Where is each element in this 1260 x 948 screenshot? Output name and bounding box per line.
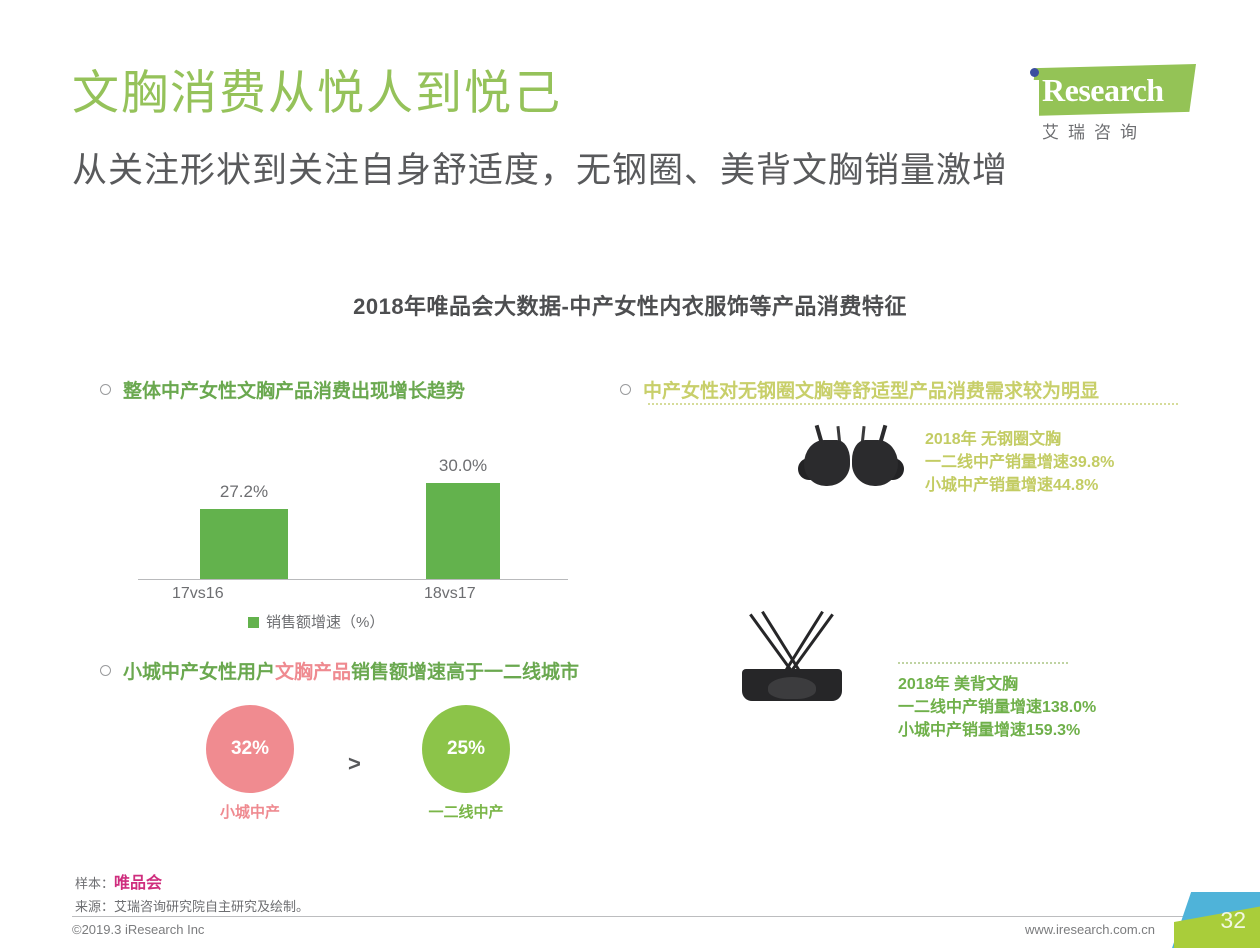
- wireless-bra-line2: 一二线中产销量增速39.8%: [925, 451, 1114, 474]
- bar-value-18vs17: 30.0%: [421, 456, 505, 476]
- bralette-lace-detail: [768, 677, 816, 699]
- legend-label: 销售额增速（%）: [266, 614, 384, 631]
- wireless-bra-line1: 2018年 无钢圈文胸: [925, 428, 1114, 451]
- bullet-left-mid: 小城中产女性用户文胸产品销售额增速高于一二线城市: [100, 657, 579, 684]
- bullet-left-mid-part1: 小城中产女性用户: [123, 662, 275, 683]
- wireless-bra-image: [798, 424, 904, 486]
- bralette-strap-cross-left-2: [784, 611, 824, 672]
- bar-18vs17: [426, 483, 500, 579]
- bar-17vs16: [200, 509, 288, 579]
- greater-than-icon: >: [348, 751, 361, 777]
- logo-i-stem-icon: [1030, 80, 1039, 116]
- beautiful-back-bra-image: [740, 605, 844, 701]
- page-title: 文胸消费从悦人到悦己: [72, 68, 562, 117]
- bullet-left-top-label: 整体中产女性文胸产品消费出现增长趋势: [123, 381, 465, 402]
- circle-bullet-icon: [100, 384, 111, 395]
- sample-value: 唯品会: [114, 875, 162, 892]
- bullet-left-mid-part2: 文胸产品: [275, 662, 351, 683]
- comparison-circles: 32% > 25% 小城中产 一二线中产: [140, 705, 600, 835]
- footer-copyright: ©2019.3 iResearch Inc: [72, 922, 204, 937]
- dotted-underline-right: [648, 403, 1178, 405]
- source-line: 来源：艾瑞咨询研究院自主研究及绘制。: [75, 897, 309, 917]
- circle-small-city-value: 32%: [206, 705, 294, 793]
- circle-bullet-icon: [620, 384, 631, 395]
- footer-website: www.iresearch.com.cn: [1025, 922, 1155, 937]
- bra-cup-right: [852, 440, 898, 486]
- wireless-bra-caption: 2018年 无钢圈文胸 一二线中产销量增速39.8% 小城中产销量增速44.8%: [925, 428, 1114, 498]
- circle-tier12-value: 25%: [422, 705, 510, 793]
- bullet-left-top: 整体中产女性文胸产品消费出现增长趋势: [100, 376, 465, 403]
- logo-wordmark: Research: [1042, 72, 1164, 109]
- page-subtitle: 从关注形状到关注自身舒适度，无钢圈、美背文胸销量激增: [72, 152, 1008, 191]
- footer-divider: [72, 916, 1188, 917]
- bullet-right-top-label: 中产女性对无钢圈文胸等舒适型产品消费需求较为明显: [643, 381, 1099, 402]
- bra-cup-left: [804, 440, 850, 486]
- beautiful-back-bra-line2: 一二线中产销量增速138.0%: [898, 696, 1096, 719]
- circle-small-city-label: 小城中产: [206, 801, 294, 822]
- logo-i-dot-icon: [1030, 68, 1039, 77]
- slide-root: 文胸消费从悦人到悦己 从关注形状到关注自身舒适度，无钢圈、美背文胸销量激增 Re…: [0, 0, 1260, 948]
- bar-category-18vs17: 18vs17: [424, 585, 476, 603]
- legend-swatch-icon: [248, 617, 259, 628]
- sample-label: 样本：: [75, 876, 114, 891]
- dotted-line-above-caption: [898, 662, 1068, 664]
- iresearch-logo: Research 艾瑞咨询: [1002, 58, 1202, 146]
- beautiful-back-bra-line1: 2018年 美背文胸: [898, 673, 1096, 696]
- bar-chart: 27.2% 30.0%: [138, 440, 568, 580]
- circle-bullet-icon: [100, 665, 111, 676]
- beautiful-back-bra-line3: 小城中产销量增速159.3%: [898, 719, 1096, 742]
- bar-value-17vs16: 27.2%: [198, 482, 290, 502]
- bar-category-17vs16: 17vs16: [172, 585, 224, 603]
- chart-title: 2018年唯品会大数据-中产女性内衣服饰等产品消费特征: [0, 289, 1260, 321]
- wireless-bra-line3: 小城中产销量增速44.8%: [925, 474, 1114, 497]
- page-number: 32: [1220, 907, 1246, 934]
- footnote-block: 样本：唯品会 来源：艾瑞咨询研究院自主研究及绘制。: [75, 872, 309, 917]
- bullet-right-top: 中产女性对无钢圈文胸等舒适型产品消费需求较为明显: [620, 376, 1099, 403]
- bullet-left-mid-part3: 销售额增速高于一二线城市: [351, 662, 579, 683]
- corner-decoration: 32: [1164, 892, 1260, 948]
- logo-chinese-name: 艾瑞咨询: [1042, 118, 1146, 143]
- sample-line: 样本：唯品会: [75, 872, 309, 897]
- chart-legend: 销售额增速（%）: [248, 611, 384, 632]
- circle-tier12-label: 一二线中产: [422, 801, 510, 822]
- beautiful-back-bra-caption: 2018年 美背文胸 一二线中产销量增速138.0% 小城中产销量增速159.3…: [898, 673, 1096, 743]
- chart-baseline-axis: [138, 579, 568, 580]
